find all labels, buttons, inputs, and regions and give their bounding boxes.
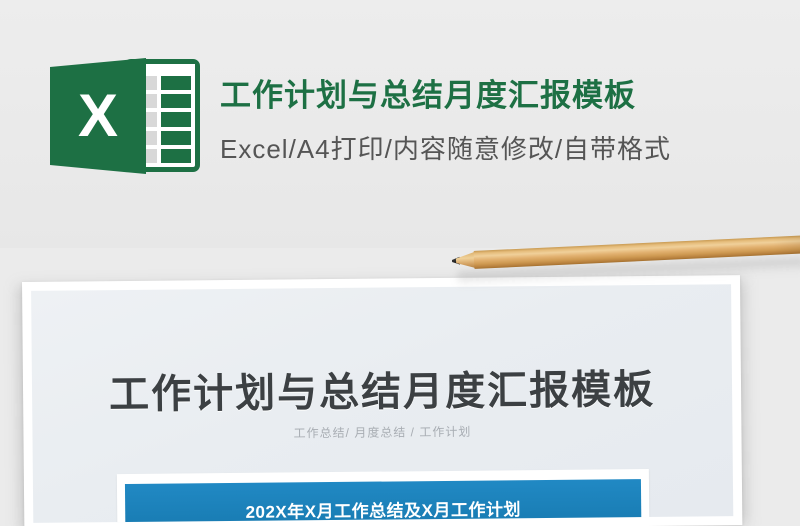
excel-letter-x: X xyxy=(50,58,146,174)
excel-icon: X xyxy=(50,58,202,174)
document-banner-text: 202X年X月工作总结及X月工作计划 xyxy=(245,495,521,523)
document-preview-stage: 工作计划与总结月度汇报模板 工作总结/ 月度总结 / 工作计划 202X年X月工… xyxy=(0,248,800,526)
excel-cell xyxy=(161,76,191,90)
document-page: 工作计划与总结月度汇报模板 工作总结/ 月度总结 / 工作计划 202X年X月工… xyxy=(31,284,733,523)
promo-title: 工作计划与总结月度汇报模板 xyxy=(220,70,671,115)
document-sheet[interactable]: 工作计划与总结月度汇报模板 工作总结/ 月度总结 / 工作计划 202X年X月工… xyxy=(22,275,742,526)
excel-cell xyxy=(161,112,191,126)
document-banner: 202X年X月工作总结及X月工作计划 xyxy=(125,479,641,523)
excel-cell xyxy=(161,131,191,145)
excel-cell xyxy=(161,149,191,163)
promo-text-block: 工作计划与总结月度汇报模板 Excel/A4打印/内容随意修改/自带格式 xyxy=(220,66,671,166)
document-banner-card: 202X年X月工作总结及X月工作计划 xyxy=(117,469,650,523)
promo-subtitle: Excel/A4打印/内容随意修改/自带格式 xyxy=(220,129,671,166)
excel-cell xyxy=(161,94,191,108)
promo-banner: X 工作计划与总结月度汇报模板 Excel/A4打印/内容随意修改/自带格式 xyxy=(0,0,800,248)
promo-content: X 工作计划与总结月度汇报模板 Excel/A4打印/内容随意修改/自带格式 xyxy=(50,58,671,174)
document-subtitle: 工作总结/ 月度总结 / 工作计划 xyxy=(32,420,732,444)
document-title: 工作计划与总结月度汇报模板 xyxy=(32,356,733,421)
